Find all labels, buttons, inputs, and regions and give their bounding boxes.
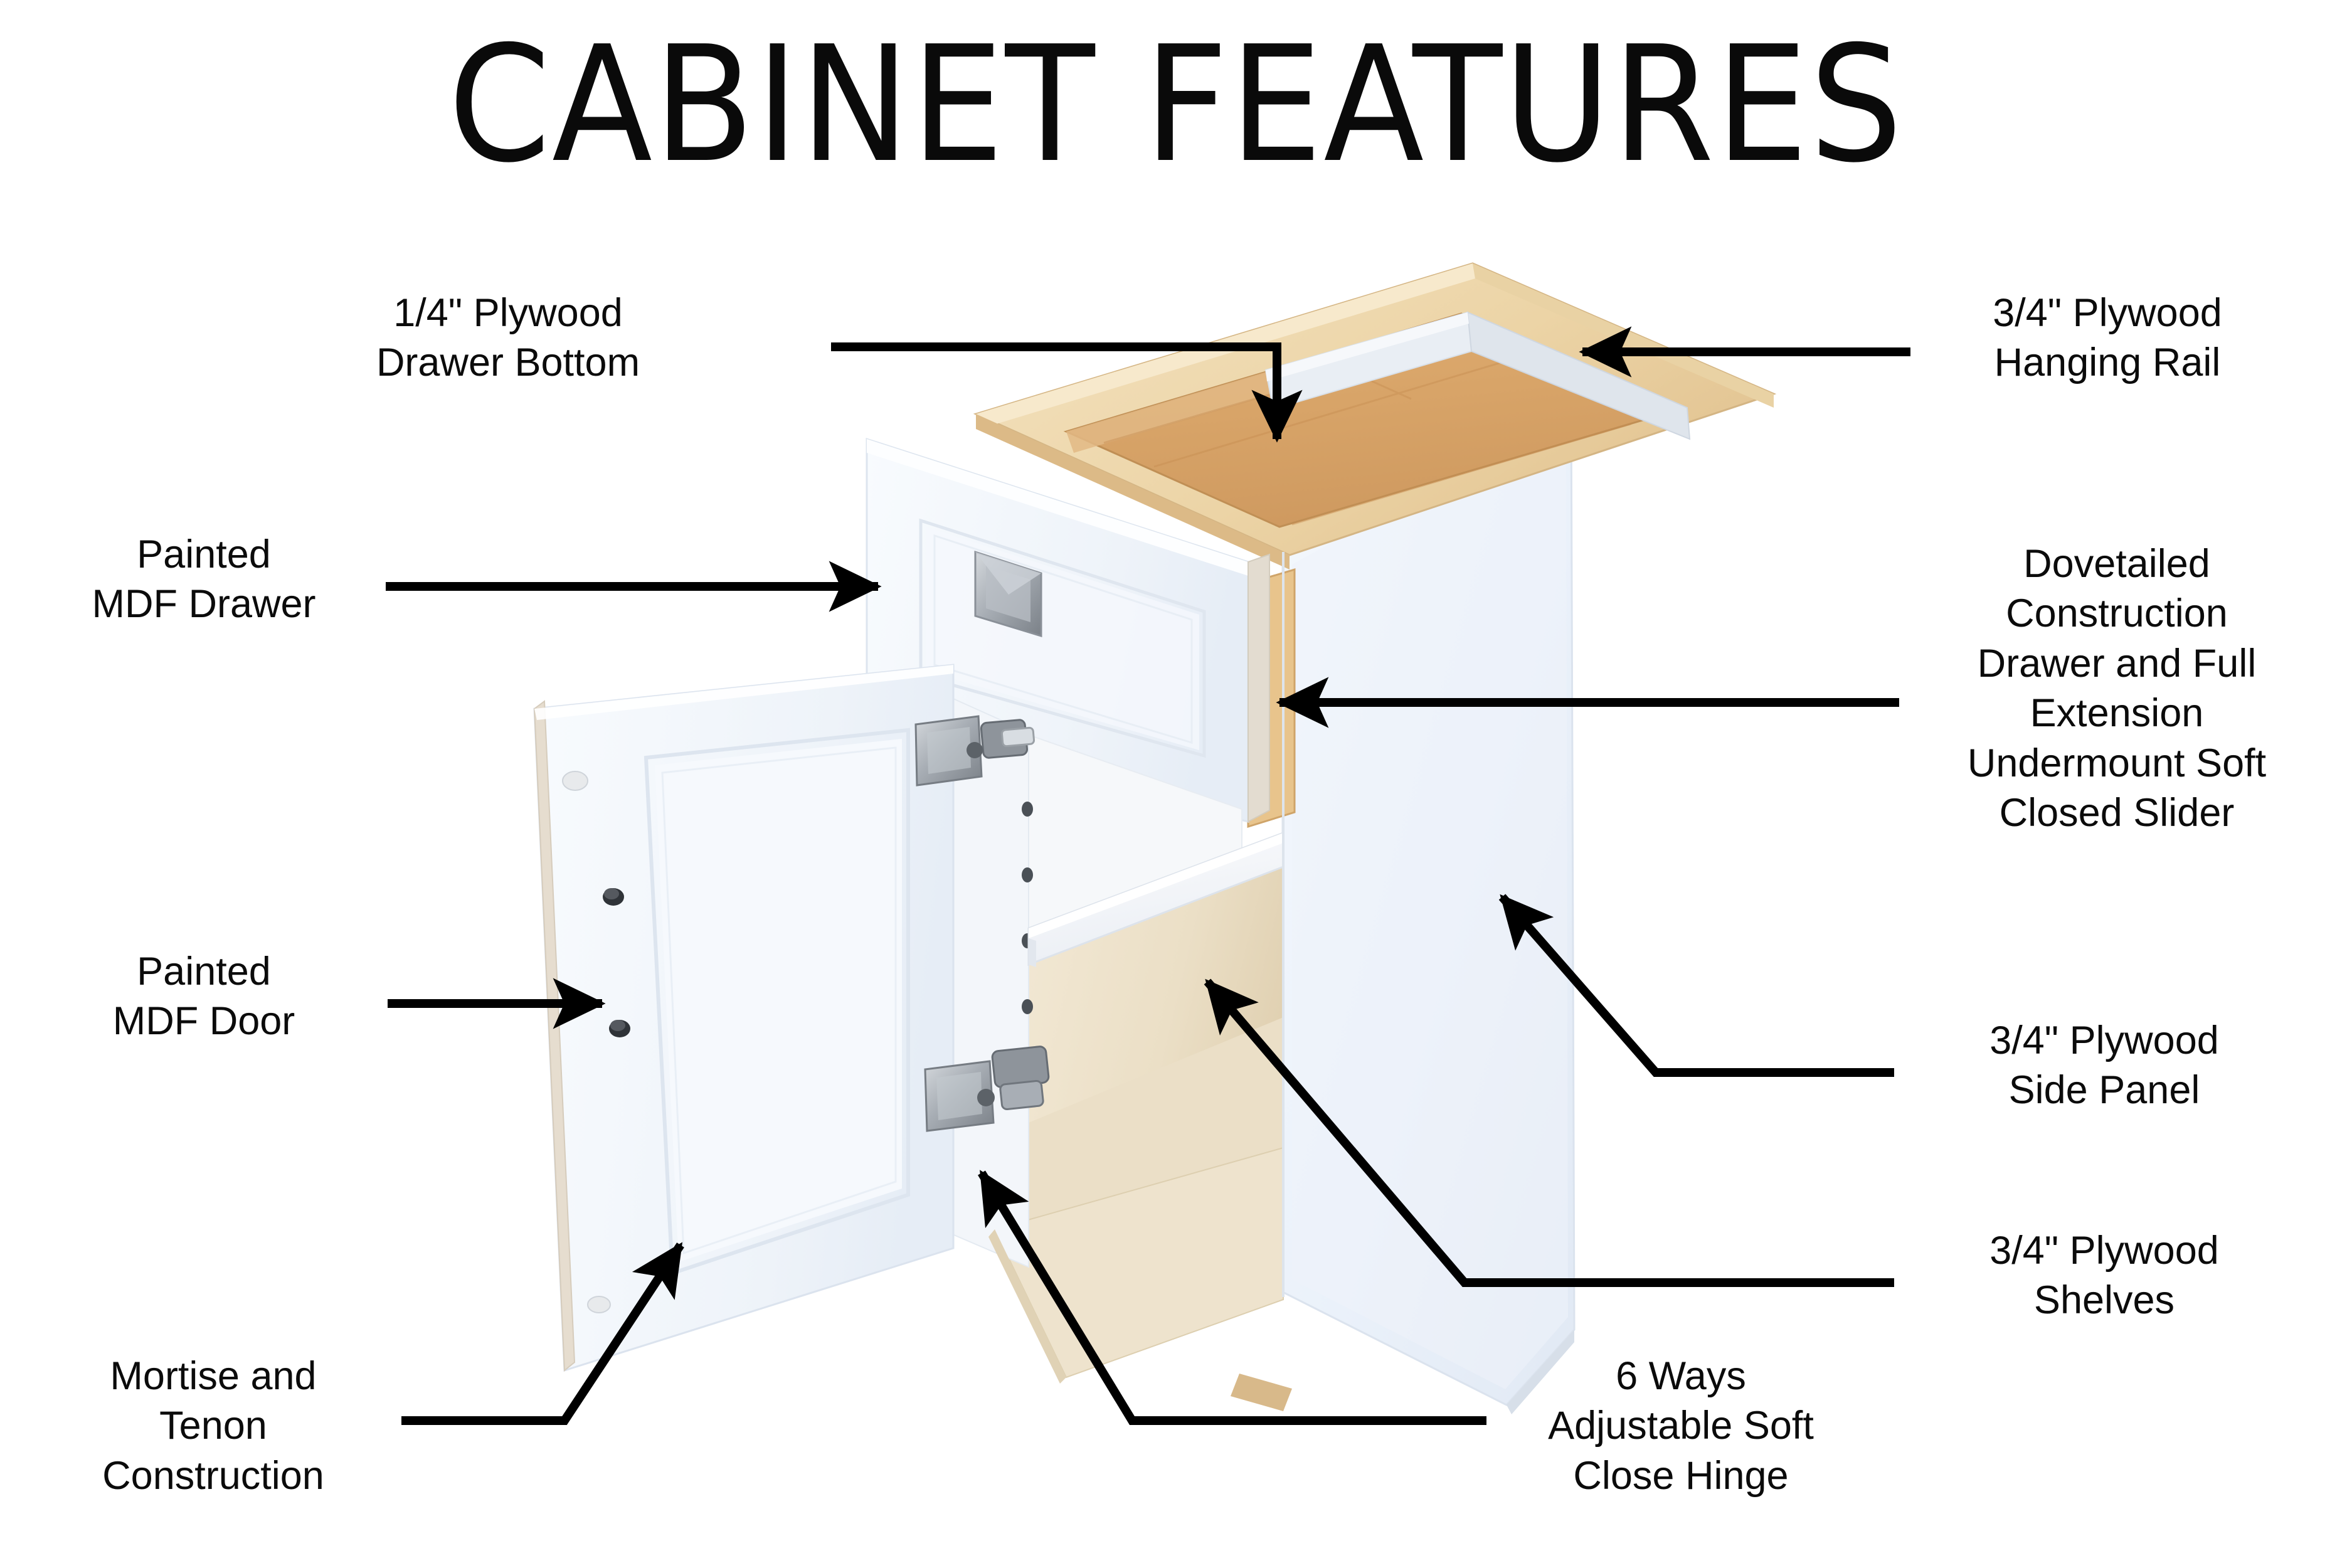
callout-soft-close-hinge: 6 Ways Adjustable Soft Close Hinge (1480, 1352, 1882, 1501)
callout-mortise-and-tenon: Mortise and Tenon Construction (38, 1352, 389, 1501)
door-bumper-bottom (588, 1296, 610, 1313)
callout-painted-mdf-drawer: Painted MDF Drawer (38, 530, 370, 630)
callout-side-panel: 3/4" Plywood Side Panel (1900, 1016, 2308, 1116)
callout-dovetailed-construction: Dovetailed Construction Drawer and Full … (1900, 539, 2333, 838)
cabinet-door[interactable] (534, 665, 953, 1370)
cabinet-side-panel (1283, 398, 1574, 1414)
door-bumper-top (563, 771, 588, 790)
callout-painted-mdf-door: Painted MDF Door (38, 947, 370, 1047)
infographic-canvas: CABINET FEATURES (0, 0, 2352, 1568)
callout-drawer-bottom: 1/4" Plywood Drawer Bottom (301, 289, 715, 388)
callout-shelves: 3/4" Plywood Shelves (1900, 1226, 2308, 1326)
callout-hanging-rail: 3/4" Plywood Hanging Rail (1907, 289, 2308, 388)
